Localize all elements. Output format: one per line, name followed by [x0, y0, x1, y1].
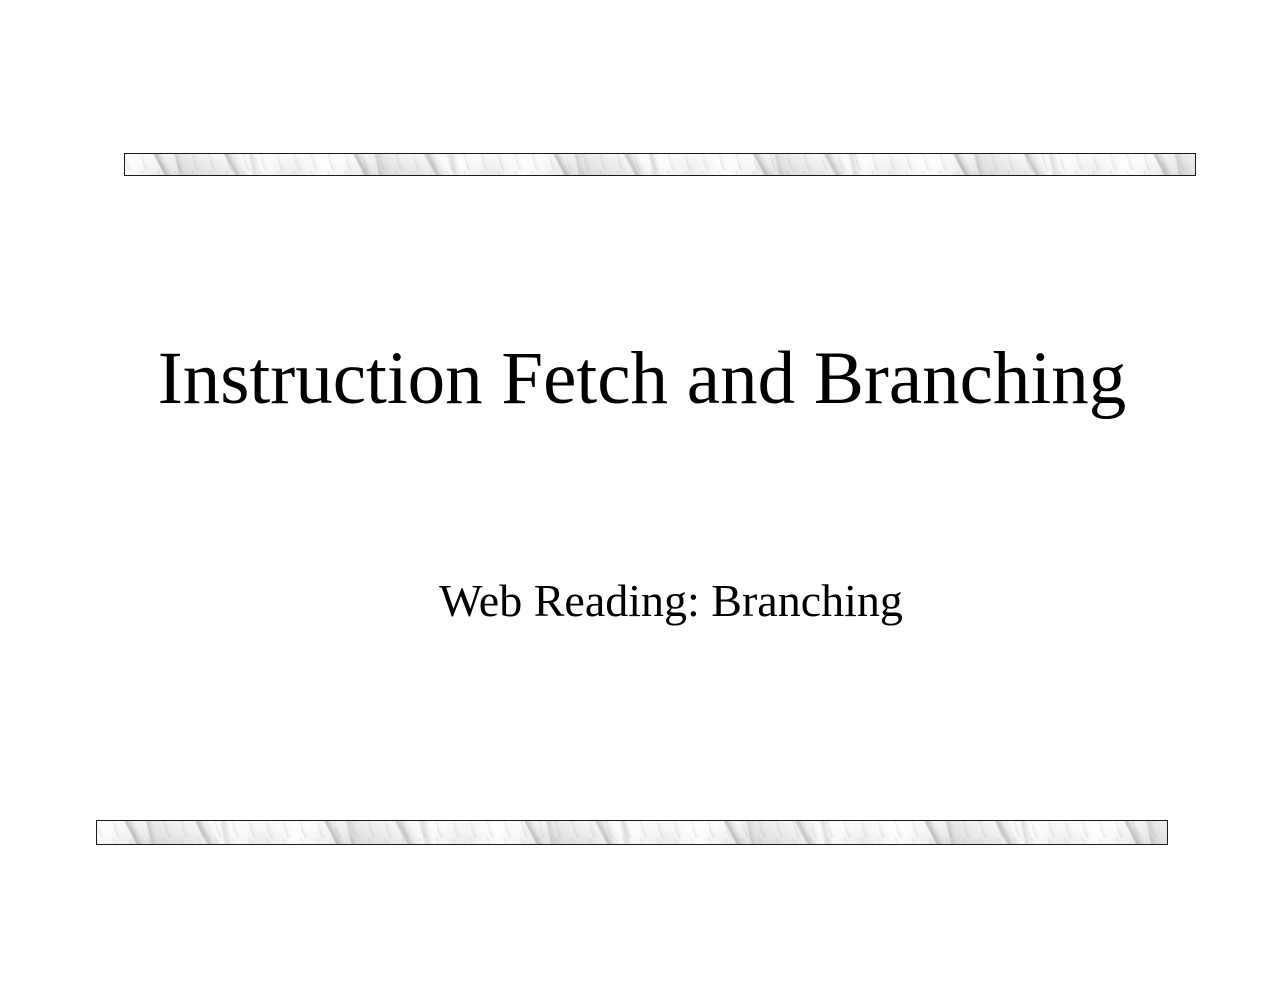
slide-subtitle: Web Reading: Branching [377, 575, 903, 628]
presentation-slide: Instruction Fetch and Branching Web Read… [0, 0, 1280, 989]
top-marble-divider-bar [124, 153, 1196, 176]
slide-title: Instruction Fetch and Branching [154, 337, 1127, 421]
bottom-marble-divider-bar [96, 820, 1168, 845]
marble-texture-fill [125, 154, 1195, 175]
marble-texture-fill [97, 821, 1167, 844]
subtitle-placeholder: Web Reading: Branching [0, 575, 1280, 628]
title-placeholder: Instruction Fetch and Branching [0, 337, 1280, 421]
